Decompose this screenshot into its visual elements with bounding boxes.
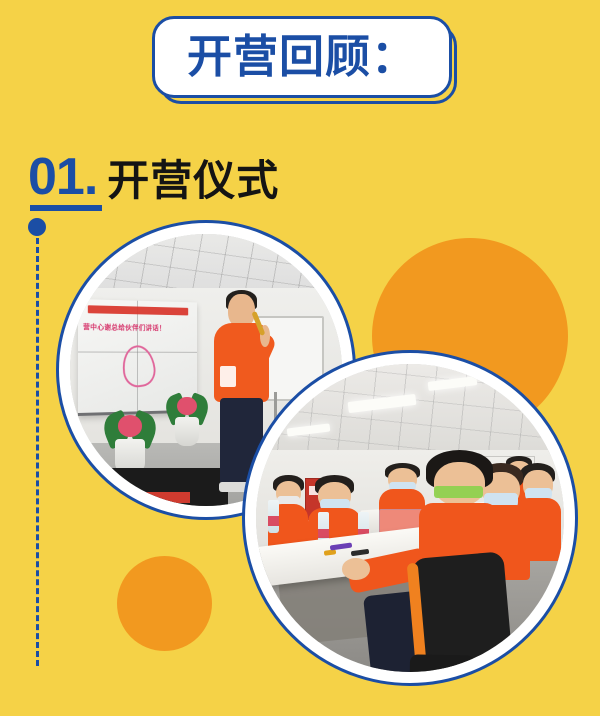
title-badge-face: 开营回顾： [152, 16, 452, 98]
section-title: 开营仪式 [107, 160, 279, 202]
section-heading: 01. 开营仪式 [28, 140, 548, 202]
shirt-logo [220, 366, 235, 386]
potted-plant-right [165, 386, 209, 446]
timeline-dot [28, 218, 46, 236]
stage-red-strip [108, 492, 190, 503]
screen-caption-text: 营中心谢总给伙伴们讲话！ [83, 322, 192, 333]
poster-canvas: 开营回顾： 01. 开营仪式 营中心谢总给伙伴们讲话！ [0, 0, 600, 716]
section-number: 01. [28, 154, 97, 202]
timeline-dashed-line [36, 238, 39, 666]
photo-participants-classroom [242, 350, 578, 686]
speaker-head [228, 294, 254, 327]
office-chair [412, 551, 514, 670]
ceiling-grid [256, 364, 564, 456]
orange-circle-bottom-left-decoration [117, 556, 212, 651]
eyeglasses-icon [434, 486, 484, 498]
chair-seat [410, 654, 475, 672]
title-badge: 开营回顾： [152, 16, 464, 108]
ceiling [70, 234, 342, 294]
water-bottle [268, 500, 279, 534]
photo-two-image [256, 364, 564, 672]
plant-flower [177, 397, 196, 415]
ceiling [256, 364, 564, 456]
plant-flower [118, 415, 142, 436]
ceiling-grid [70, 234, 342, 294]
scene-classroom [256, 364, 564, 672]
foreground-hand [342, 558, 370, 580]
plant-pot [175, 417, 199, 446]
title-badge-text: 开营回顾： [187, 34, 417, 79]
potted-plant-left [103, 403, 157, 474]
participant-head [434, 462, 485, 506]
section-underline [30, 205, 102, 211]
